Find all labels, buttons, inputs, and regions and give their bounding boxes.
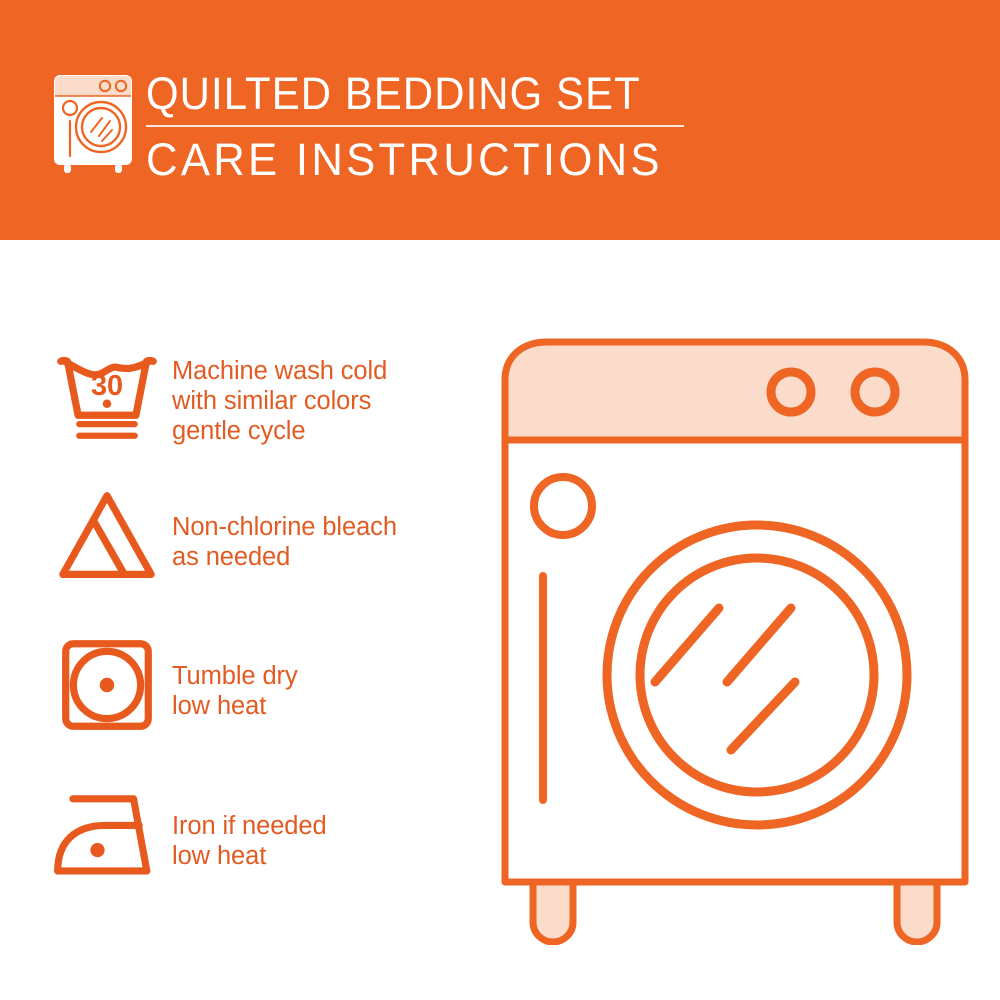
care-text-line: gentle cycle	[172, 416, 387, 446]
wash-temperature-value: 30	[91, 370, 123, 402]
care-text-line: Tumble dry	[172, 661, 298, 691]
care-instructions-page: QUILTED BEDDING SET CARE INSTRUCTIONS 30	[0, 0, 1000, 1000]
bleach-triangle-icon	[48, 486, 166, 584]
washing-machine-illustration	[495, 330, 975, 945]
page-subtitle: CARE INSTRUCTIONS	[146, 135, 689, 185]
care-item-text: Tumble dry low heat	[166, 635, 298, 721]
wash-tub-icon: 30	[48, 342, 166, 448]
care-text-line: Iron if needed	[172, 811, 327, 841]
detergent-dial	[534, 477, 592, 535]
header-banner: QUILTED BEDDING SET CARE INSTRUCTIONS	[0, 0, 1000, 240]
door-inner-ring	[640, 558, 874, 792]
header-title-block: QUILTED BEDDING SET CARE INSTRUCTIONS	[146, 70, 706, 185]
care-text-line: Machine wash cold	[172, 356, 387, 386]
care-text-line: low heat	[172, 691, 298, 721]
care-text-line: with similar colors	[172, 386, 387, 416]
washing-machine-icon	[44, 64, 148, 176]
care-item-text: Machine wash cold with similar colors ge…	[166, 342, 387, 446]
leg-right	[897, 882, 937, 942]
care-text-line: Non-chlorine bleach	[172, 512, 397, 542]
care-item-iron: Iron if needed low heat	[48, 785, 478, 905]
care-instruction-list: 30 Machine wash cold with similar colors…	[0, 240, 500, 1000]
tumble-dry-icon	[48, 635, 166, 733]
iron-icon	[48, 785, 166, 879]
care-item-text: Iron if needed low heat	[166, 785, 327, 871]
care-item-machine-wash: 30 Machine wash cold with similar colors…	[48, 342, 478, 462]
page-title: QUILTED BEDDING SET	[146, 70, 667, 118]
title-divider	[146, 125, 684, 127]
knob-left	[771, 372, 811, 412]
care-item-text: Non-chlorine bleach as needed	[166, 486, 397, 572]
leg-left	[533, 882, 573, 942]
care-item-tumble-dry: Tumble dry low heat	[48, 635, 478, 755]
care-text-line: as needed	[172, 542, 397, 572]
care-text-line: low heat	[172, 841, 327, 871]
knob-right	[855, 372, 895, 412]
care-item-bleach: Non-chlorine bleach as needed	[48, 486, 478, 606]
